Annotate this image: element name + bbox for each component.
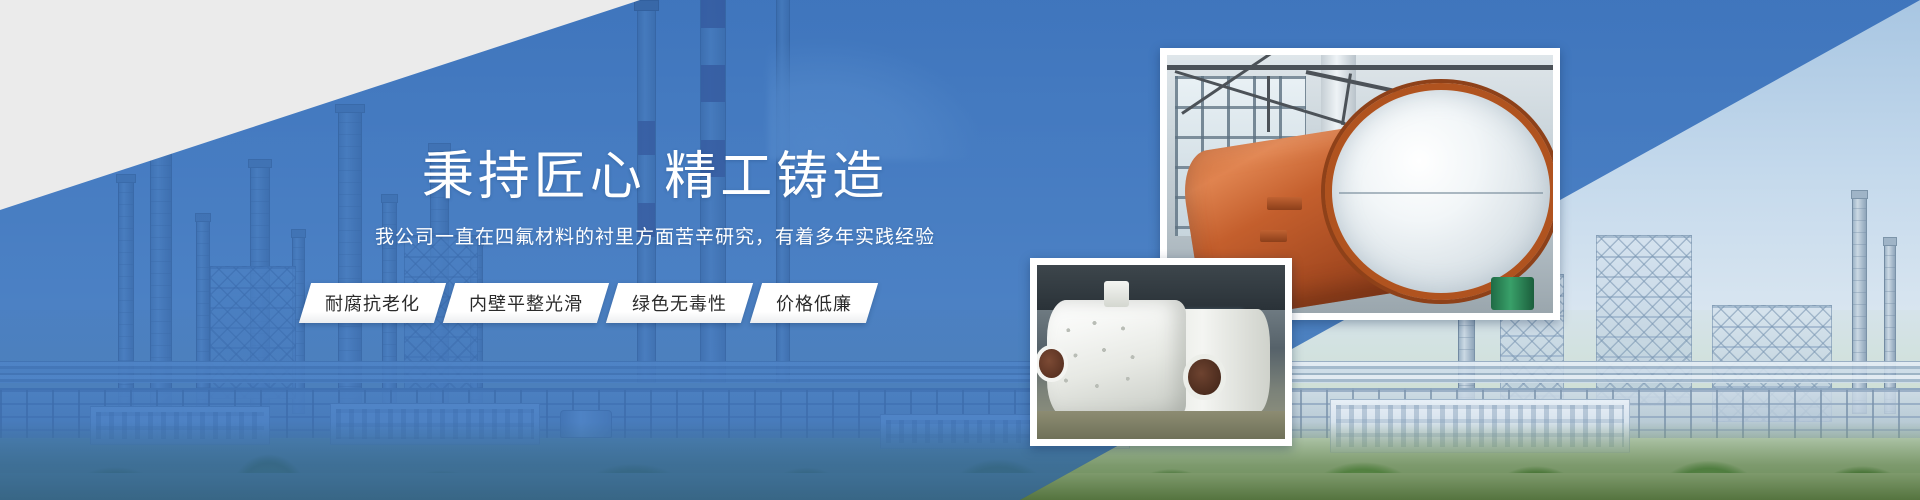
white-storage-tank-photo-card[interactable]	[1030, 258, 1292, 446]
feature-tag-1[interactable]: 耐腐抗老化	[299, 283, 446, 323]
feature-tag-label: 内壁平整光滑	[456, 290, 596, 316]
hero-subheadline: 我公司一直在四氟材料的衬里方面苦辛研究，有着多年实践经验	[305, 222, 1005, 249]
feature-tag-4[interactable]: 价格低廉	[750, 283, 878, 323]
tank-vent-nozzle	[1104, 281, 1129, 307]
feature-tag-label: 价格低廉	[763, 290, 865, 316]
feature-tag-2[interactable]: 内壁平整光滑	[443, 283, 609, 323]
tank-yard-ground	[1037, 411, 1285, 439]
roof-beam	[1167, 65, 1553, 70]
feature-tag-3[interactable]: 绿色无毒性	[606, 283, 753, 323]
hoist-cable	[1267, 76, 1270, 133]
vessel-nozzle	[1267, 197, 1302, 210]
green-drum	[1491, 277, 1533, 311]
hero-banner: 秉持匠心 精工铸造 我公司一直在四氟材料的衬里方面苦辛研究，有着多年实践经验 耐…	[0, 0, 1920, 500]
hero-text-block: 秉持匠心 精工铸造 我公司一直在四氟材料的衬里方面苦辛研究，有着多年实践经验	[305, 148, 1005, 249]
tank-stud-bolts	[1054, 314, 1173, 404]
vessel-nozzle	[1260, 230, 1287, 242]
white-storage-tank-photo	[1037, 265, 1285, 439]
feature-tag-label: 绿色无毒性	[619, 290, 740, 316]
flange-bolt-ring	[1325, 83, 1553, 300]
tank-side-manway	[1188, 359, 1220, 396]
feature-tag-label: 耐腐抗老化	[312, 290, 433, 316]
hero-headline: 秉持匠心 精工铸造	[305, 148, 1005, 206]
feature-tag-row: 耐腐抗老化 内壁平整光滑 绿色无毒性 价格低廉	[305, 283, 872, 323]
